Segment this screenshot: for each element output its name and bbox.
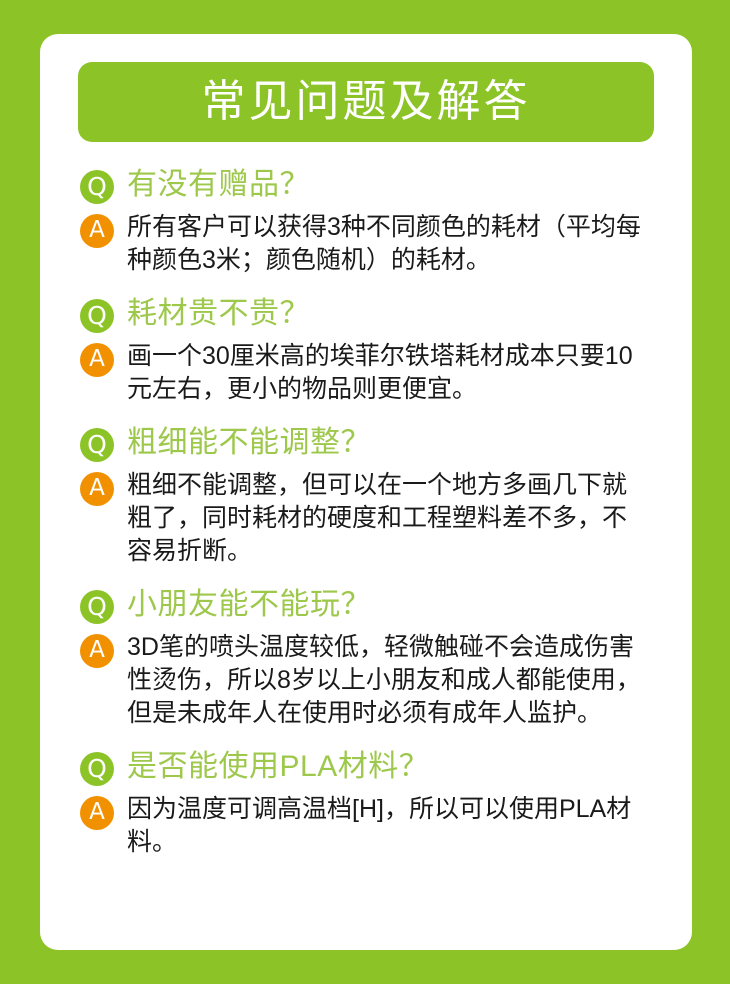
question-text: 耗材贵不贵？ bbox=[127, 297, 310, 331]
question-row: Q 耗材贵不贵？ bbox=[80, 297, 656, 333]
question-row: Q 粗细能不能调整？ bbox=[80, 426, 656, 462]
answer-row: A 粗细不能调整，但可以在一个地方多画几下就粗了，同时耗材的硬度和工程塑料差不多… bbox=[80, 469, 656, 568]
question-text: 粗细能不能调整？ bbox=[127, 426, 371, 460]
answer-badge-label: A bbox=[89, 219, 105, 242]
page-frame: 常见问题及解答 Q 有没有赠品？ A 所有客户可以获得3种不同颜色的耗材（平均每… bbox=[0, 0, 730, 984]
answer-row: A 所有客户可以获得3种不同颜色的耗材（平均每种颜色3米；颜色随机）的耗材。 bbox=[80, 211, 656, 277]
answer-text: 3D笔的喷头温度较低，轻微触碰不会造成伤害性烫伤，所以8岁以上小朋友和成人都能使… bbox=[127, 631, 647, 730]
answer-row: A 画一个30厘米高的埃菲尔铁塔耗材成本只要10元左右，更小的物品则更便宜。 bbox=[80, 340, 656, 406]
question-badge-icon: Q bbox=[80, 428, 114, 462]
question-row: Q 有没有赠品？ bbox=[80, 168, 656, 204]
answer-text: 粗细不能调整，但可以在一个地方多画几下就粗了，同时耗材的硬度和工程塑料差不多，不… bbox=[127, 469, 647, 568]
question-badge-icon: Q bbox=[80, 752, 114, 786]
answer-text: 所有客户可以获得3种不同颜色的耗材（平均每种颜色3米；颜色随机）的耗材。 bbox=[127, 211, 647, 277]
page-title: 常见问题及解答 bbox=[202, 80, 531, 124]
question-row: Q 是否能使用PLA材料？ bbox=[80, 750, 656, 786]
question-badge-label: Q bbox=[87, 756, 107, 781]
question-badge-label: Q bbox=[87, 432, 107, 457]
question-row: Q 小朋友能不能玩？ bbox=[80, 588, 656, 624]
answer-badge-icon: A bbox=[80, 634, 114, 668]
answer-badge-icon: A bbox=[80, 796, 114, 830]
answer-row: A 3D笔的喷头温度较低，轻微触碰不会造成伤害性烫伤，所以8岁以上小朋友和成人都… bbox=[80, 631, 656, 730]
answer-badge-icon: A bbox=[80, 214, 114, 248]
answer-badge-label: A bbox=[89, 801, 105, 824]
faq-item: Q 耗材贵不贵？ A 画一个30厘米高的埃菲尔铁塔耗材成本只要10元左右，更小的… bbox=[80, 297, 656, 406]
faq-item: Q 粗细能不能调整？ A 粗细不能调整，但可以在一个地方多画几下就粗了，同时耗材… bbox=[80, 426, 656, 568]
answer-text: 因为温度可调高温档[H]，所以可以使用PLA材料。 bbox=[127, 793, 656, 859]
answer-row: A 因为温度可调高温档[H]，所以可以使用PLA材料。 bbox=[80, 793, 656, 859]
faq-list: Q 有没有赠品？ A 所有客户可以获得3种不同颜色的耗材（平均每种颜色3米；颜色… bbox=[70, 168, 662, 859]
answer-badge-label: A bbox=[89, 639, 105, 662]
faq-item: Q 有没有赠品？ A 所有客户可以获得3种不同颜色的耗材（平均每种颜色3米；颜色… bbox=[80, 168, 656, 277]
question-badge-icon: Q bbox=[80, 299, 114, 333]
answer-badge-icon: A bbox=[80, 343, 114, 377]
question-text: 有没有赠品？ bbox=[127, 168, 310, 202]
content-card: 常见问题及解答 Q 有没有赠品？ A 所有客户可以获得3种不同颜色的耗材（平均每… bbox=[40, 34, 692, 950]
question-badge-label: Q bbox=[87, 303, 107, 328]
question-badge-icon: Q bbox=[80, 590, 114, 624]
header-banner: 常见问题及解答 bbox=[78, 62, 654, 142]
answer-text: 画一个30厘米高的埃菲尔铁塔耗材成本只要10元左右，更小的物品则更便宜。 bbox=[127, 340, 647, 406]
faq-item: Q 小朋友能不能玩？ A 3D笔的喷头温度较低，轻微触碰不会造成伤害性烫伤，所以… bbox=[80, 588, 656, 730]
answer-badge-icon: A bbox=[80, 472, 114, 506]
question-badge-label: Q bbox=[87, 174, 107, 199]
question-badge-icon: Q bbox=[80, 170, 114, 204]
faq-item: Q 是否能使用PLA材料？ A 因为温度可调高温档[H]，所以可以使用PLA材料… bbox=[80, 750, 656, 859]
question-text: 是否能使用PLA材料？ bbox=[127, 750, 429, 784]
answer-badge-label: A bbox=[89, 477, 105, 500]
question-badge-label: Q bbox=[87, 594, 107, 619]
question-text: 小朋友能不能玩？ bbox=[127, 588, 371, 622]
answer-badge-label: A bbox=[89, 348, 105, 371]
